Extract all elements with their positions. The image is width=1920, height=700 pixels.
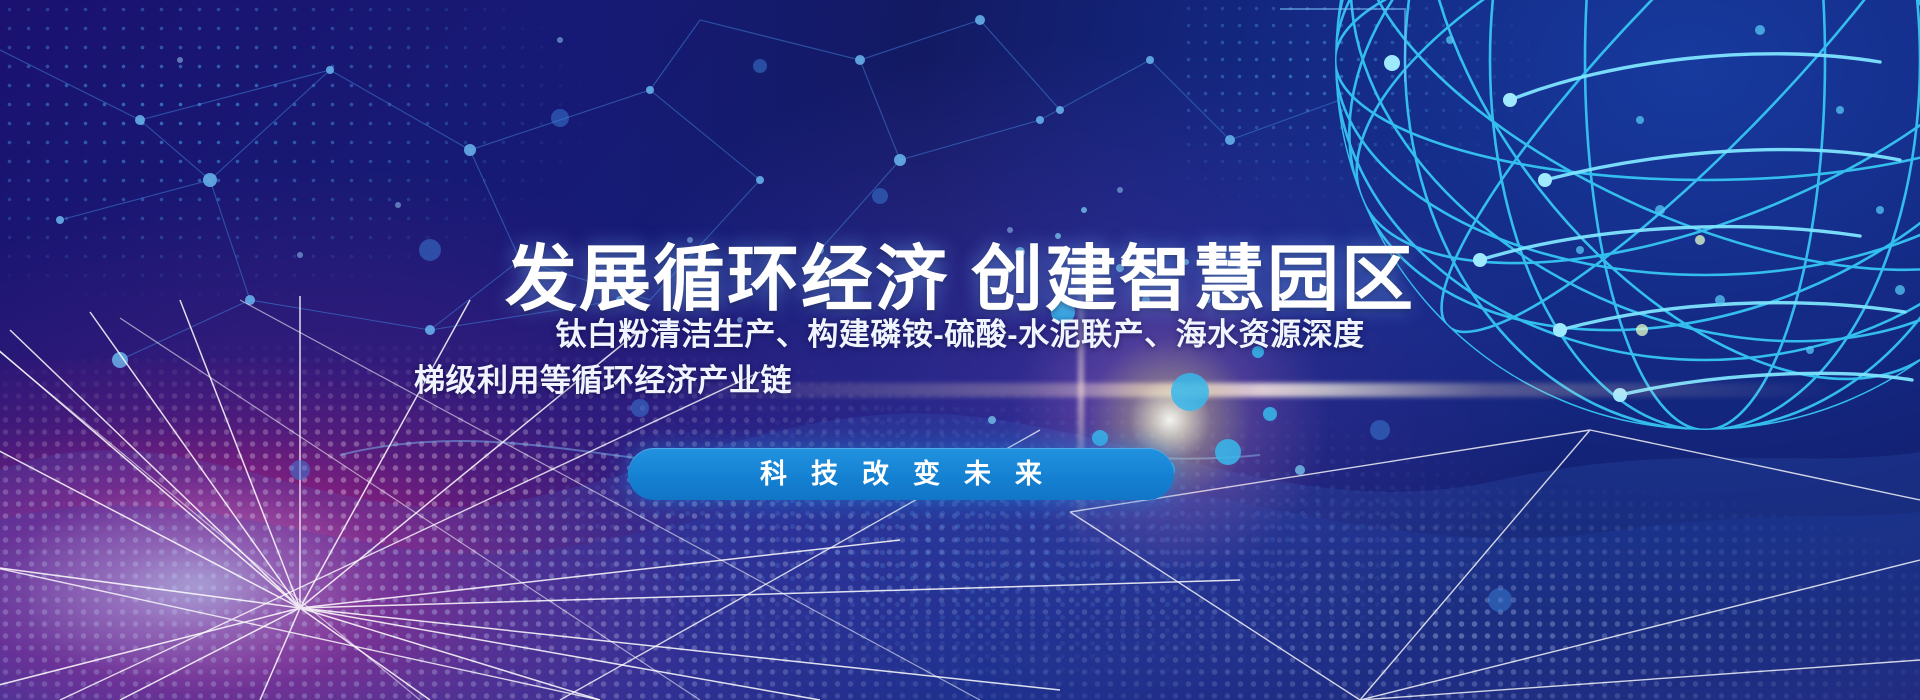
banner-content: 发展循环经济 创建智慧园区 钛白粉清洁生产、构建磷铵-硫酸-水泥联产、海水资源深…	[0, 0, 1920, 700]
subtitle-line-2: 梯级利用等循环经济产业链	[0, 358, 1920, 404]
subtitle-block: 钛白粉清洁生产、构建磷铵-硫酸-水泥联产、海水资源深度 梯级利用等循环经济产业链	[0, 312, 1920, 404]
cta-button[interactable]: 科技改变未来	[628, 448, 1174, 500]
promo-banner: 发展循环经济 创建智慧园区 钛白粉清洁生产、构建磷铵-硫酸-水泥联产、海水资源深…	[0, 0, 1920, 700]
subtitle-line-1: 钛白粉清洁生产、构建磷铵-硫酸-水泥联产、海水资源深度	[0, 312, 1920, 358]
page-title: 发展循环经济 创建智慧园区	[0, 220, 1920, 325]
